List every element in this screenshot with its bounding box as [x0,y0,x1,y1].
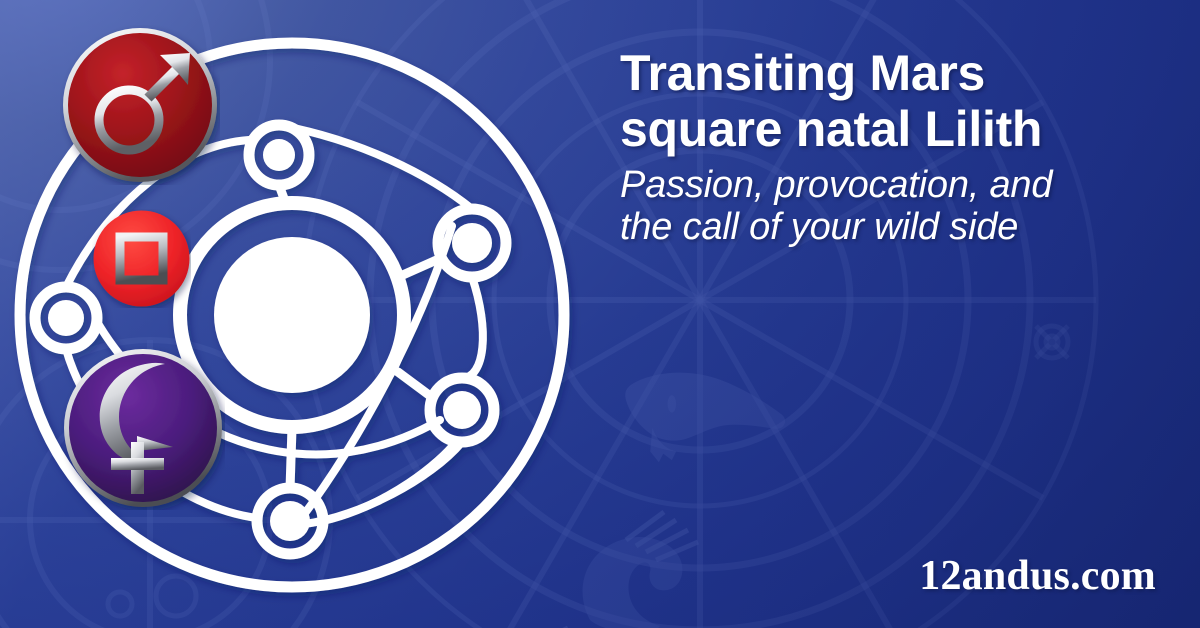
promo-banner: Transiting Mars square natal Lilith Pass… [0,0,1200,628]
headline-block: Transiting Mars square natal Lilith Pass… [620,46,1172,249]
square-aspect-badge [92,209,191,308]
page-subtitle: Passion, provocation, and the call of yo… [620,164,1172,250]
lilith-badge [61,346,225,510]
brand-logo[interactable]: 12andus.com [919,552,1156,600]
page-title: Transiting Mars square natal Lilith [620,46,1172,158]
mars-badge [60,25,220,185]
